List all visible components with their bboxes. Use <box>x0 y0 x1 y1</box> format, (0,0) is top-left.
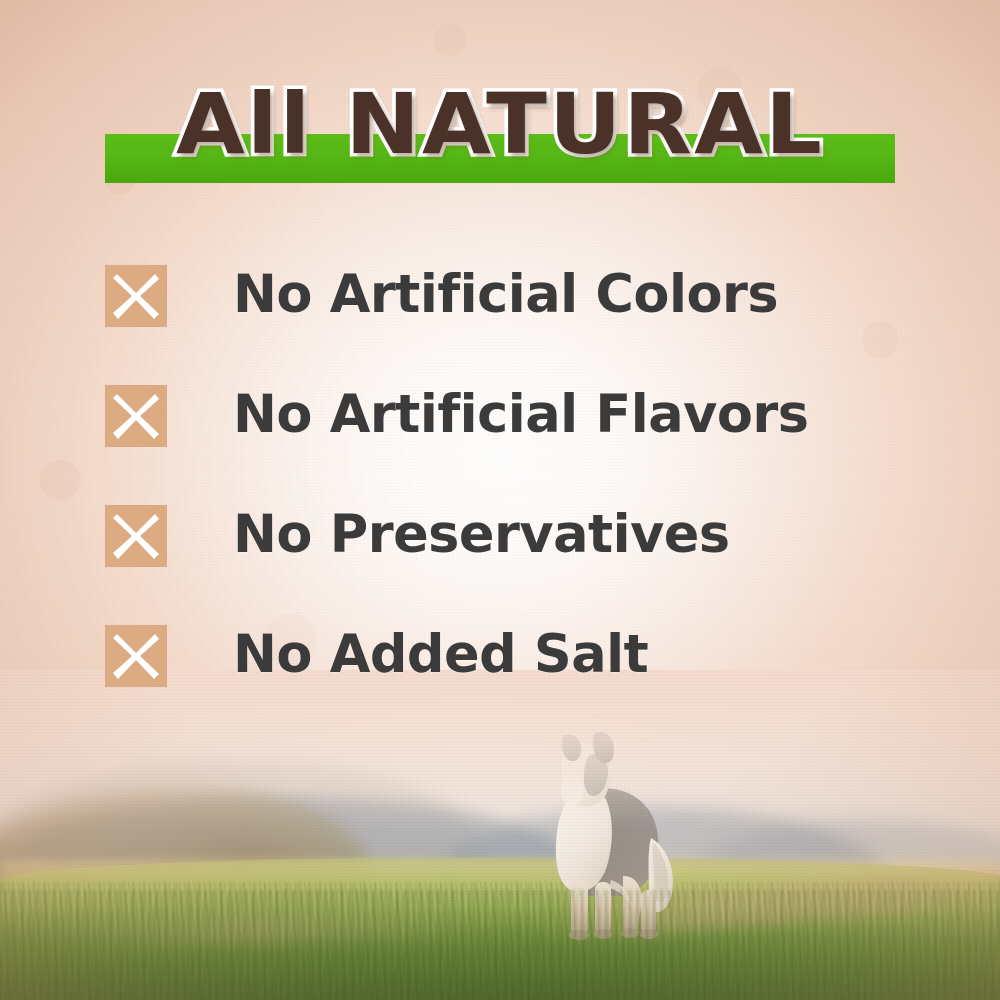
x-mark-icon <box>105 265 167 327</box>
claims-list: No Artificial Colors No Artificial Flavo… <box>105 263 935 743</box>
claim-label: No Artificial Flavors <box>233 379 809 451</box>
claim-label: No Added Salt <box>233 619 648 691</box>
headline-title: All NATURAL <box>0 72 1000 176</box>
claim-row-no-artificial-flavors: No Artificial Flavors <box>105 383 935 503</box>
claim-label: No Preservatives <box>233 499 730 571</box>
claim-row-no-added-salt: No Added Salt <box>105 623 935 743</box>
foreground-shadow <box>0 904 1000 1000</box>
claim-row-no-artificial-colors: No Artificial Colors <box>105 263 935 383</box>
x-mark-icon <box>105 385 167 447</box>
claim-row-no-preservatives: No Preservatives <box>105 503 935 623</box>
claim-label: No Artificial Colors <box>233 259 778 331</box>
x-mark-icon <box>105 625 167 687</box>
x-mark-icon <box>105 505 167 567</box>
all-natural-claims-panel: All NATURAL No Artificial Colors No Arti… <box>0 0 1000 1000</box>
headline-banner: All NATURAL <box>0 72 1000 202</box>
